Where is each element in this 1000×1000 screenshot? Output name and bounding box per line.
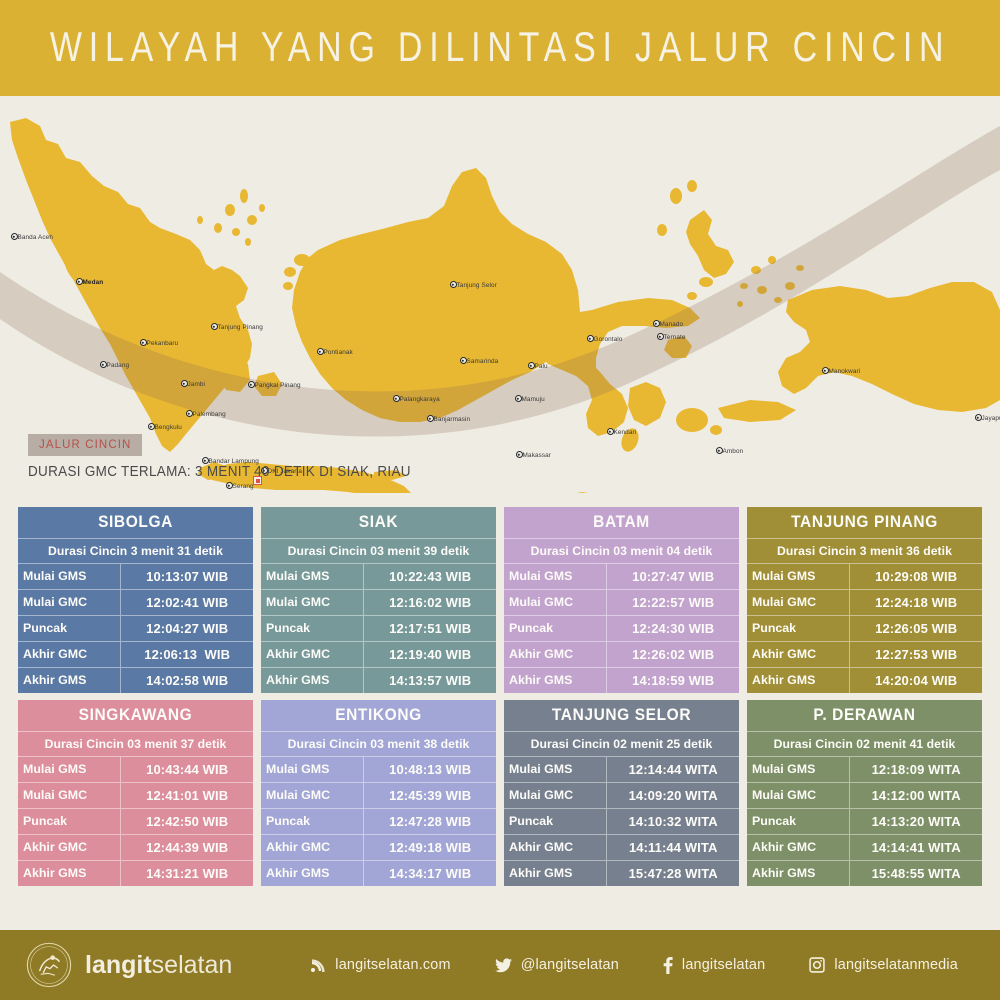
map-city-label: Ternate — [654, 333, 686, 341]
card-duration: Durasi Cincin 02 menit 41 detik — [747, 731, 982, 756]
city-name: Gorontalo — [594, 336, 623, 343]
city-marker-icon — [460, 357, 467, 364]
card-row: Mulai GMC14:12:00 WITA — [747, 782, 982, 808]
map-city-label: Pangkal Pinang — [245, 381, 301, 389]
card-row-label: Mulai GMS — [261, 757, 364, 782]
city-marker-icon — [226, 482, 233, 489]
card-row: Mulai GMC12:22:57 WIB — [504, 589, 739, 615]
card-city-name: SIBOLGA — [18, 506, 253, 539]
card-row-value: 14:20:04 WIB — [850, 668, 982, 693]
city-marker-icon — [587, 335, 594, 342]
footer-link-label: langitselatan — [682, 957, 765, 973]
city-name: Medan — [83, 279, 104, 286]
card-row: Puncak12:26:05 WIB — [747, 615, 982, 641]
city-name: Ternate — [664, 334, 686, 341]
map-city-label: Samarinda — [457, 357, 498, 365]
card-row-value: 12:02:41 WIB — [121, 590, 253, 615]
map-city-label: Manado — [650, 320, 683, 328]
card-row-value: 14:14:41 WITA — [850, 835, 982, 860]
map-city-label: Manokwari — [819, 367, 860, 375]
card-duration: Durasi Cincin 03 menit 37 detik — [18, 731, 253, 756]
card-row: Akhir GMC12:49:18 WIB — [261, 834, 496, 860]
card-row-label: Mulai GMS — [747, 564, 850, 589]
card-row-label: Mulai GMS — [18, 564, 121, 589]
footer-link[interactable]: langitselatanmedia — [809, 957, 958, 973]
card-row: Mulai GMS10:13:07 WIB — [18, 563, 253, 589]
city-marker-icon — [653, 320, 660, 327]
card-row: Mulai GMS12:18:09 WITA — [747, 756, 982, 782]
card-row: Mulai GMC12:45:39 WIB — [261, 782, 496, 808]
map-city-label: Jambi — [178, 380, 205, 388]
card-row-value: 10:27:47 WIB — [607, 564, 739, 589]
card-row-value: 14:31:21 WIB — [121, 861, 253, 886]
card-row: Mulai GMS12:14:44 WITA — [504, 756, 739, 782]
city-marker-icon — [607, 428, 614, 435]
card-row-value: 12:47:28 WIB — [364, 809, 496, 834]
city-timing-cards: SIBOLGADurasi Cincin 3 menit 31 detikMul… — [18, 507, 982, 886]
card-row-value: 14:10:32 WITA — [607, 809, 739, 834]
city-marker-icon — [181, 380, 188, 387]
city-timing-card: SIAKDurasi Cincin 03 menit 39 detikMulai… — [261, 507, 496, 693]
card-row-label: Akhir GMC — [261, 835, 364, 860]
card-row: Mulai GMC12:02:41 WIB — [18, 589, 253, 615]
card-row: Mulai GMS10:29:08 WIB — [747, 563, 982, 589]
city-name: Jambi — [188, 381, 206, 388]
city-marker-icon — [317, 348, 324, 355]
twitter-icon — [495, 958, 512, 973]
city-name: Makassar — [523, 452, 552, 459]
card-row-label: Akhir GMS — [18, 861, 121, 886]
city-marker-icon — [393, 395, 400, 402]
card-row: Akhir GMS14:13:57 WIB — [261, 667, 496, 693]
card-duration: Durasi Cincin 3 menit 36 detik — [747, 538, 982, 563]
card-row-label: Akhir GMC — [504, 835, 607, 860]
card-row: Akhir GMS14:31:21 WIB — [18, 860, 253, 886]
map-city-label: Pontianak — [314, 348, 353, 356]
card-city-name: TANJUNG SELOR — [504, 699, 739, 732]
footer-link[interactable]: @langitselatan — [495, 957, 619, 973]
city-name: Mamuju — [522, 396, 545, 403]
city-marker-icon — [822, 367, 829, 374]
card-row: Mulai GMS10:48:13 WIB — [261, 756, 496, 782]
card-row-value: 12:44:39 WIB — [121, 835, 253, 860]
instagram-icon — [809, 957, 825, 973]
footer-link-label: langitselatanmedia — [834, 957, 958, 973]
city-marker-icon — [211, 323, 218, 330]
map-city-label: Gorontalo — [584, 335, 622, 343]
card-row: Akhir GMS14:20:04 WIB — [747, 667, 982, 693]
card-duration: Durasi Cincin 03 menit 38 detik — [261, 731, 496, 756]
city-timing-card: TANJUNG SELORDurasi Cincin 02 menit 25 d… — [504, 700, 739, 886]
card-row-value: 10:43:44 WIB — [121, 757, 253, 782]
map-city-label: Tanjung Selor — [447, 281, 497, 289]
card-row-value: 12:16:02 WIB — [364, 590, 496, 615]
card-row-value: 14:09:20 WITA — [607, 783, 739, 808]
city-name: Pekanbaru — [147, 340, 179, 347]
map-city-label: Mamuju — [512, 395, 545, 403]
card-row-value: 14:34:17 WIB — [364, 861, 496, 886]
card-row-value: 10:13:07 WIB — [121, 564, 253, 589]
map-city-label: Medan — [73, 278, 103, 286]
card-row-value: 14:18:59 WIB — [607, 668, 739, 693]
card-city-name: SINGKAWANG — [18, 699, 253, 732]
card-row: Akhir GMS14:02:58 WIB — [18, 667, 253, 693]
card-row-label: Mulai GMS — [18, 757, 121, 782]
city-timing-card: ENTIKONGDurasi Cincin 03 menit 38 detikM… — [261, 700, 496, 886]
city-name: Samarinda — [467, 358, 499, 365]
card-row: Mulai GMC14:09:20 WITA — [504, 782, 739, 808]
card-row-label: Mulai GMC — [261, 783, 364, 808]
card-row-label: Akhir GMS — [261, 861, 364, 886]
card-city-name: SIAK — [261, 506, 496, 539]
wordmark-bold: langit — [85, 951, 152, 979]
card-row-label: Mulai GMS — [504, 564, 607, 589]
map-city-label: Palembang — [183, 410, 226, 418]
indonesia-map: Banda AcehMedanPekanbaruPadangJambiPalem… — [0, 100, 1000, 493]
card-city-name: TANJUNG PINANG — [747, 506, 982, 539]
card-row-value: 12:19:40 WIB — [364, 642, 496, 667]
card-row-value: 12:14:44 WITA — [607, 757, 739, 782]
legend-badge: JALUR CINCIN — [28, 434, 142, 456]
city-marker-icon — [11, 233, 18, 240]
map-city-label: Makassar — [513, 451, 551, 459]
card-row: Mulai GMS10:27:47 WIB — [504, 563, 739, 589]
brand-block: langitselatan — [26, 942, 232, 988]
card-row-label: Akhir GMS — [504, 861, 607, 886]
map-city-label: Ambon — [713, 447, 743, 455]
card-row-value: 12:26:05 WIB — [850, 616, 982, 641]
map-city-label: Kendari — [604, 428, 636, 436]
card-row: Puncak14:10:32 WITA — [504, 808, 739, 834]
card-row-label: Puncak — [747, 616, 850, 641]
card-row-label: Puncak — [504, 616, 607, 641]
city-marker-icon — [427, 415, 434, 422]
city-name: Palu — [535, 363, 548, 370]
city-name: Pontianak — [324, 349, 353, 356]
map-graphic — [0, 100, 1000, 493]
footer-link-label: langitselatan.com — [335, 957, 450, 973]
card-row: Akhir GMC12:06:13 WIB — [18, 641, 253, 667]
card-row: Akhir GMS14:34:17 WIB — [261, 860, 496, 886]
card-row-label: Akhir GMC — [18, 835, 121, 860]
card-row: Puncak12:24:30 WIB — [504, 615, 739, 641]
footer-link[interactable]: langitselatan.com — [310, 957, 450, 973]
card-row: Akhir GMC12:44:39 WIB — [18, 834, 253, 860]
card-city-name: BATAM — [504, 506, 739, 539]
wordmark-light: selatan — [152, 951, 233, 979]
city-timing-card: SIBOLGADurasi Cincin 3 menit 31 detikMul… — [18, 507, 253, 693]
card-row: Akhir GMS15:47:28 WITA — [504, 860, 739, 886]
card-row-label: Akhir GMC — [18, 642, 121, 667]
city-timing-card: P. DERAWANDurasi Cincin 02 menit 41 deti… — [747, 700, 982, 886]
city-name: Ambon — [723, 448, 744, 455]
header-banner: WILAYAH YANG DILINTASI JALUR CINCIN — [0, 0, 1000, 96]
map-city-label: Tanjung Pinang — [208, 323, 263, 331]
card-row-label: Mulai GMC — [18, 783, 121, 808]
city-name: Bengkulu — [155, 424, 182, 431]
map-city-label: Padang — [97, 361, 129, 369]
card-row-value: 12:27:53 WIB — [850, 642, 982, 667]
city-name: Pangkal Pinang — [255, 382, 301, 389]
card-row-label: Mulai GMS — [261, 564, 364, 589]
card-row-label: Akhir GMS — [504, 668, 607, 693]
card-row-value: 14:12:00 WITA — [850, 783, 982, 808]
card-row-label: Puncak — [18, 809, 121, 834]
card-row: Akhir GMC14:11:44 WITA — [504, 834, 739, 860]
card-row: Mulai GMC12:24:18 WIB — [747, 589, 982, 615]
card-row-label: Puncak — [261, 616, 364, 641]
card-duration: Durasi Cincin 3 menit 31 detik — [18, 538, 253, 563]
city-timing-card: BATAMDurasi Cincin 03 menit 04 detikMula… — [504, 507, 739, 693]
card-duration: Durasi Cincin 02 menit 25 detik — [504, 731, 739, 756]
footer-bar: langitselatan langitselatan.com@langitse… — [0, 930, 1000, 1000]
card-row-value: 10:22:43 WIB — [364, 564, 496, 589]
card-row: Akhir GMS15:48:55 WITA — [747, 860, 982, 886]
card-row-label: Akhir GMC — [261, 642, 364, 667]
city-name: Serang — [233, 483, 254, 490]
social-links: langitselatan.com@langitselatanlangitsel… — [310, 957, 958, 974]
city-marker-icon — [515, 395, 522, 402]
city-name: Tanjung Pinang — [218, 324, 263, 331]
card-row-value: 12:41:01 WIB — [121, 783, 253, 808]
card-row: Mulai GMS10:43:44 WIB — [18, 756, 253, 782]
card-row: Akhir GMC12:27:53 WIB — [747, 641, 982, 667]
card-row-value: 12:45:39 WIB — [364, 783, 496, 808]
city-marker-icon — [975, 414, 982, 421]
card-row: Puncak14:13:20 WITA — [747, 808, 982, 834]
card-row-value: 12:06:13 WIB — [121, 642, 253, 667]
card-duration: Durasi Cincin 03 menit 04 detik — [504, 538, 739, 563]
card-row: Puncak12:17:51 WIB — [261, 615, 496, 641]
card-row-value: 10:29:08 WIB — [850, 564, 982, 589]
card-row-label: Mulai GMC — [261, 590, 364, 615]
card-row-label: Mulai GMC — [747, 590, 850, 615]
card-row: Mulai GMC12:41:01 WIB — [18, 782, 253, 808]
map-city-label: Bengkulu — [145, 423, 182, 431]
card-row: Akhir GMC12:26:02 WIB — [504, 641, 739, 667]
infographic-page: WILAYAH YANG DILINTASI JALUR CINCIN — [0, 0, 1000, 1000]
card-row-value: 14:11:44 WITA — [607, 835, 739, 860]
card-row-value: 14:13:57 WIB — [364, 668, 496, 693]
card-row-value: 12:04:27 WIB — [121, 616, 253, 641]
city-name: Kendari — [614, 429, 637, 436]
map-city-label: Jayapura — [972, 414, 1000, 422]
card-row-label: Puncak — [261, 809, 364, 834]
card-row-value: 12:17:51 WIB — [364, 616, 496, 641]
card-row-value: 10:48:13 WIB — [364, 757, 496, 782]
brand-wordmark: langitselatan — [85, 951, 232, 980]
city-marker-icon — [100, 361, 107, 368]
city-marker-icon — [186, 410, 193, 417]
city-name: Manokwari — [829, 368, 861, 375]
legend-note: DURASI GMC TERLAMA: 3 MENIT 40 DETIK DI … — [28, 463, 411, 480]
rss-icon — [310, 957, 326, 973]
map-city-label: Palangkaraya — [390, 395, 440, 403]
city-name: Banjarmasin — [434, 416, 471, 423]
map-city-label: Palu — [525, 362, 548, 370]
city-timing-card: SINGKAWANGDurasi Cincin 03 menit 37 deti… — [18, 700, 253, 886]
card-row-label: Akhir GMS — [747, 861, 850, 886]
card-row-label: Mulai GMC — [504, 783, 607, 808]
city-marker-icon — [716, 447, 723, 454]
card-row-value: 12:26:02 WIB — [607, 642, 739, 667]
card-duration: Durasi Cincin 03 menit 39 detik — [261, 538, 496, 563]
city-name: Padang — [107, 362, 130, 369]
city-timing-card: TANJUNG PINANGDurasi Cincin 3 menit 36 d… — [747, 507, 982, 693]
card-row: Akhir GMS14:18:59 WIB — [504, 667, 739, 693]
city-marker-icon — [140, 339, 147, 346]
city-name: Palembang — [193, 411, 226, 418]
card-row: Akhir GMC12:19:40 WIB — [261, 641, 496, 667]
city-name: Manado — [660, 321, 684, 328]
page-title: WILAYAH YANG DILINTASI JALUR CINCIN — [50, 24, 950, 71]
card-row-value: 14:13:20 WITA — [850, 809, 982, 834]
card-row-label: Mulai GMS — [747, 757, 850, 782]
card-row: Mulai GMS10:22:43 WIB — [261, 563, 496, 589]
card-row-label: Akhir GMC — [747, 642, 850, 667]
card-row-value: 12:49:18 WIB — [364, 835, 496, 860]
card-city-name: ENTIKONG — [261, 699, 496, 732]
city-name: Jayapura — [982, 415, 1000, 422]
card-row-label: Akhir GMC — [747, 835, 850, 860]
card-row-label: Mulai GMC — [504, 590, 607, 615]
city-marker-icon — [528, 362, 535, 369]
card-row-label: Akhir GMS — [18, 668, 121, 693]
card-row-value: 15:48:55 WITA — [850, 861, 982, 886]
facebook-icon — [663, 957, 673, 974]
card-row-label: Puncak — [18, 616, 121, 641]
card-city-name: P. DERAWAN — [747, 699, 982, 732]
footer-link-label: @langitselatan — [521, 957, 619, 973]
footer-link[interactable]: langitselatan — [663, 957, 765, 974]
map-city-label: Serang — [223, 482, 254, 490]
city-marker-icon — [657, 333, 664, 340]
card-row-value: 12:18:09 WITA — [850, 757, 982, 782]
city-name: Banda Aceh — [18, 234, 53, 241]
city-marker-icon — [76, 278, 83, 285]
city-marker-icon — [450, 281, 457, 288]
card-row-value: 12:24:30 WIB — [607, 616, 739, 641]
card-row-label: Akhir GMS — [261, 668, 364, 693]
card-row-label: Mulai GMS — [504, 757, 607, 782]
card-row-label: Akhir GMS — [747, 668, 850, 693]
map-city-label: Banda Aceh — [8, 233, 53, 241]
card-row: Mulai GMC12:16:02 WIB — [261, 589, 496, 615]
card-row-value: 12:22:57 WIB — [607, 590, 739, 615]
card-row-label: Mulai GMC — [747, 783, 850, 808]
card-row: Puncak12:04:27 WIB — [18, 615, 253, 641]
city-name: Palangkaraya — [400, 396, 440, 403]
city-marker-icon — [148, 423, 155, 430]
card-row-label: Mulai GMC — [18, 590, 121, 615]
card-row-value: 12:42:50 WIB — [121, 809, 253, 834]
card-row: Puncak12:42:50 WIB — [18, 808, 253, 834]
card-row-label: Akhir GMC — [504, 642, 607, 667]
card-row-label: Puncak — [747, 809, 850, 834]
card-row-value: 12:24:18 WIB — [850, 590, 982, 615]
city-marker-icon — [516, 451, 523, 458]
card-row-value: 14:02:58 WIB — [121, 668, 253, 693]
card-row-label: Puncak — [504, 809, 607, 834]
map-city-label: Pekanbaru — [137, 339, 178, 347]
map-city-label: Banjarmasin — [424, 415, 470, 423]
city-marker-icon — [248, 381, 255, 388]
card-row-value: 15:47:28 WITA — [607, 861, 739, 886]
langitselatan-seal-icon — [26, 942, 72, 988]
card-row: Puncak12:47:28 WIB — [261, 808, 496, 834]
card-row: Akhir GMC14:14:41 WITA — [747, 834, 982, 860]
city-name: Tanjung Selor — [457, 282, 497, 289]
